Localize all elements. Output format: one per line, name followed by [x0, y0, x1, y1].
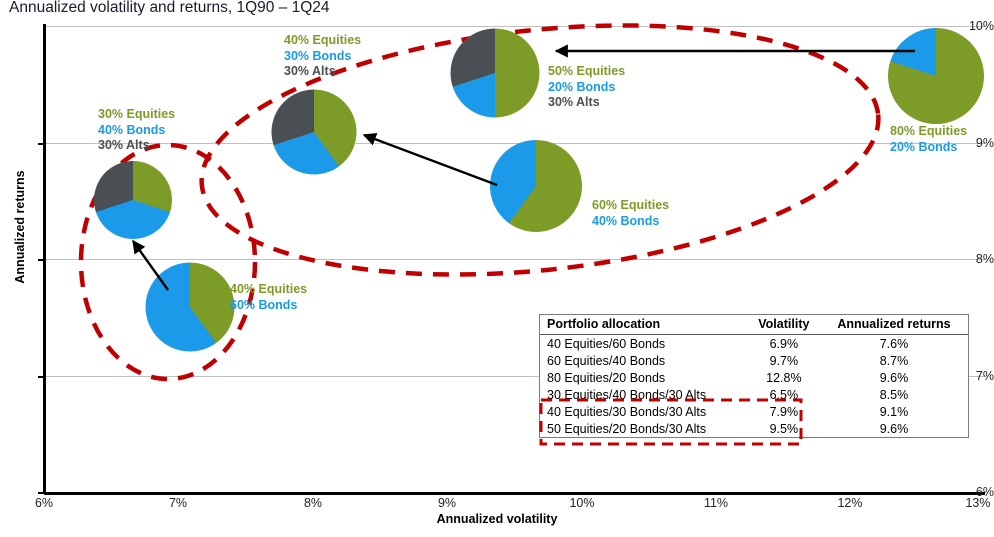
cell-returns: 7.6% — [820, 335, 968, 353]
table-row[interactable]: 50 Equities/20 Bonds/30 Alts 9.5% 9.6% — [540, 420, 968, 437]
cell-allocation: 40 Equities/30 Bonds/30 Alts — [540, 403, 748, 420]
gridline-10pct — [44, 26, 985, 27]
y-tick-10pct: 10% — [954, 19, 994, 33]
pie-label-40-30-30: 40% Equities 30% Bonds 30% Alts — [284, 33, 361, 80]
chart-title: Annualized volatility and returns, 1Q90 … — [9, 0, 330, 17]
pie-label-bonds: 30% Bonds — [284, 49, 361, 65]
pie-label-alts: 30% Alts — [98, 138, 175, 154]
pie-label-equities: 80% Equities — [890, 124, 967, 140]
pie-label-bonds: 40% Bonds — [592, 214, 669, 230]
pie-label-bonds: 20% Bonds — [548, 80, 625, 96]
pie-chart-40-30-30 — [272, 90, 357, 175]
cell-volatility: 7.9% — [748, 403, 820, 420]
pie-chart-30-40-30 — [94, 161, 172, 239]
table-header-volatility: Volatility — [748, 315, 820, 335]
table-row[interactable]: 40 Equities/30 Bonds/30 Alts 7.9% 9.1% — [540, 403, 968, 420]
chart-canvas: Annualized volatility and returns, 1Q90 … — [0, 0, 994, 537]
table-row[interactable]: 80 Equities/20 Bonds 12.8% 9.6% — [540, 369, 968, 386]
pie-chart-50-20-30 — [451, 29, 540, 118]
pie-chart-80-20 — [888, 28, 984, 124]
cell-returns: 8.7% — [820, 352, 968, 369]
pie-label-60-40: 60% Equities 40% Bonds — [592, 198, 669, 229]
cell-volatility: 6.9% — [748, 335, 820, 353]
pie-label-bonds: 20% Bonds — [890, 140, 967, 156]
table-header-returns: Annualized returns — [820, 315, 968, 335]
pie-label-alts: 30% Alts — [284, 64, 361, 80]
pie-chart-40-60 — [146, 263, 235, 352]
x-axis-line — [44, 492, 985, 495]
pie-label-bonds: 60% Bonds — [230, 298, 307, 314]
y-tickmark-9pct — [38, 143, 44, 145]
pie-label-bonds: 40% Bonds — [98, 123, 175, 139]
gridline-8pct — [44, 259, 985, 260]
x-tick-10pct: 10% — [569, 496, 594, 510]
table-header-row: Portfolio allocation Volatility Annualiz… — [540, 315, 968, 335]
cell-returns: 9.6% — [820, 420, 968, 437]
x-tick-6pct: 6% — [35, 496, 53, 510]
pie-label-equities: 40% Equities — [284, 33, 361, 49]
pie-label-80-20: 80% Equities 20% Bonds — [890, 124, 967, 155]
pie-label-equities: 40% Equities — [230, 282, 307, 298]
y-tickmark-6pct — [38, 492, 44, 494]
x-tick-8pct: 8% — [304, 496, 322, 510]
x-tick-9pct: 9% — [438, 496, 456, 510]
cell-allocation: 80 Equities/20 Bonds — [540, 369, 748, 386]
pie-label-30-40-30: 30% Equities 40% Bonds 30% Alts — [98, 107, 175, 154]
pie-label-50-20-30: 50% Equities 20% Bonds 30% Alts — [548, 64, 625, 111]
cell-volatility: 9.5% — [748, 420, 820, 437]
table-row[interactable]: 60 Equities/40 Bonds 9.7% 8.7% — [540, 352, 968, 369]
y-tickmark-8pct — [38, 259, 44, 261]
pie-label-alts: 30% Alts — [548, 95, 625, 111]
x-tick-12pct: 12% — [837, 496, 862, 510]
cell-returns: 8.5% — [820, 386, 968, 403]
cell-volatility: 6.5% — [748, 386, 820, 403]
x-tick-13pct: 13% — [965, 496, 990, 510]
cell-allocation: 40 Equities/60 Bonds — [540, 335, 748, 353]
portfolio-allocation-table: Portfolio allocation Volatility Annualiz… — [539, 314, 969, 438]
y-axis-title: Annualized returns — [13, 147, 27, 307]
cell-allocation: 60 Equities/40 Bonds — [540, 352, 748, 369]
table-row[interactable]: 40 Equities/60 Bonds 6.9% 7.6% — [540, 335, 968, 353]
cell-returns: 9.6% — [820, 369, 968, 386]
y-tickmark-7pct — [38, 376, 44, 378]
table-header-allocation: Portfolio allocation — [540, 315, 748, 335]
y-tick-8pct: 8% — [954, 252, 994, 266]
pie-label-equities: 50% Equities — [548, 64, 625, 80]
cell-volatility: 9.7% — [748, 352, 820, 369]
x-tick-11pct: 11% — [704, 496, 728, 510]
pie-label-equities: 30% Equities — [98, 107, 175, 123]
cell-allocation: 30 Equities/40 Bonds/30 Alts — [540, 386, 748, 403]
pie-label-40-60: 40% Equities 60% Bonds — [230, 282, 307, 313]
x-axis-title: Annualized volatility — [0, 512, 994, 526]
cell-returns: 9.1% — [820, 403, 968, 420]
table-row[interactable]: 30 Equities/40 Bonds/30 Alts 6.5% 8.5% — [540, 386, 968, 403]
pie-label-equities: 60% Equities — [592, 198, 669, 214]
cell-volatility: 12.8% — [748, 369, 820, 386]
x-tick-7pct: 7% — [169, 496, 187, 510]
cell-allocation: 50 Equities/20 Bonds/30 Alts — [540, 420, 748, 437]
pie-chart-60-40 — [490, 140, 582, 232]
